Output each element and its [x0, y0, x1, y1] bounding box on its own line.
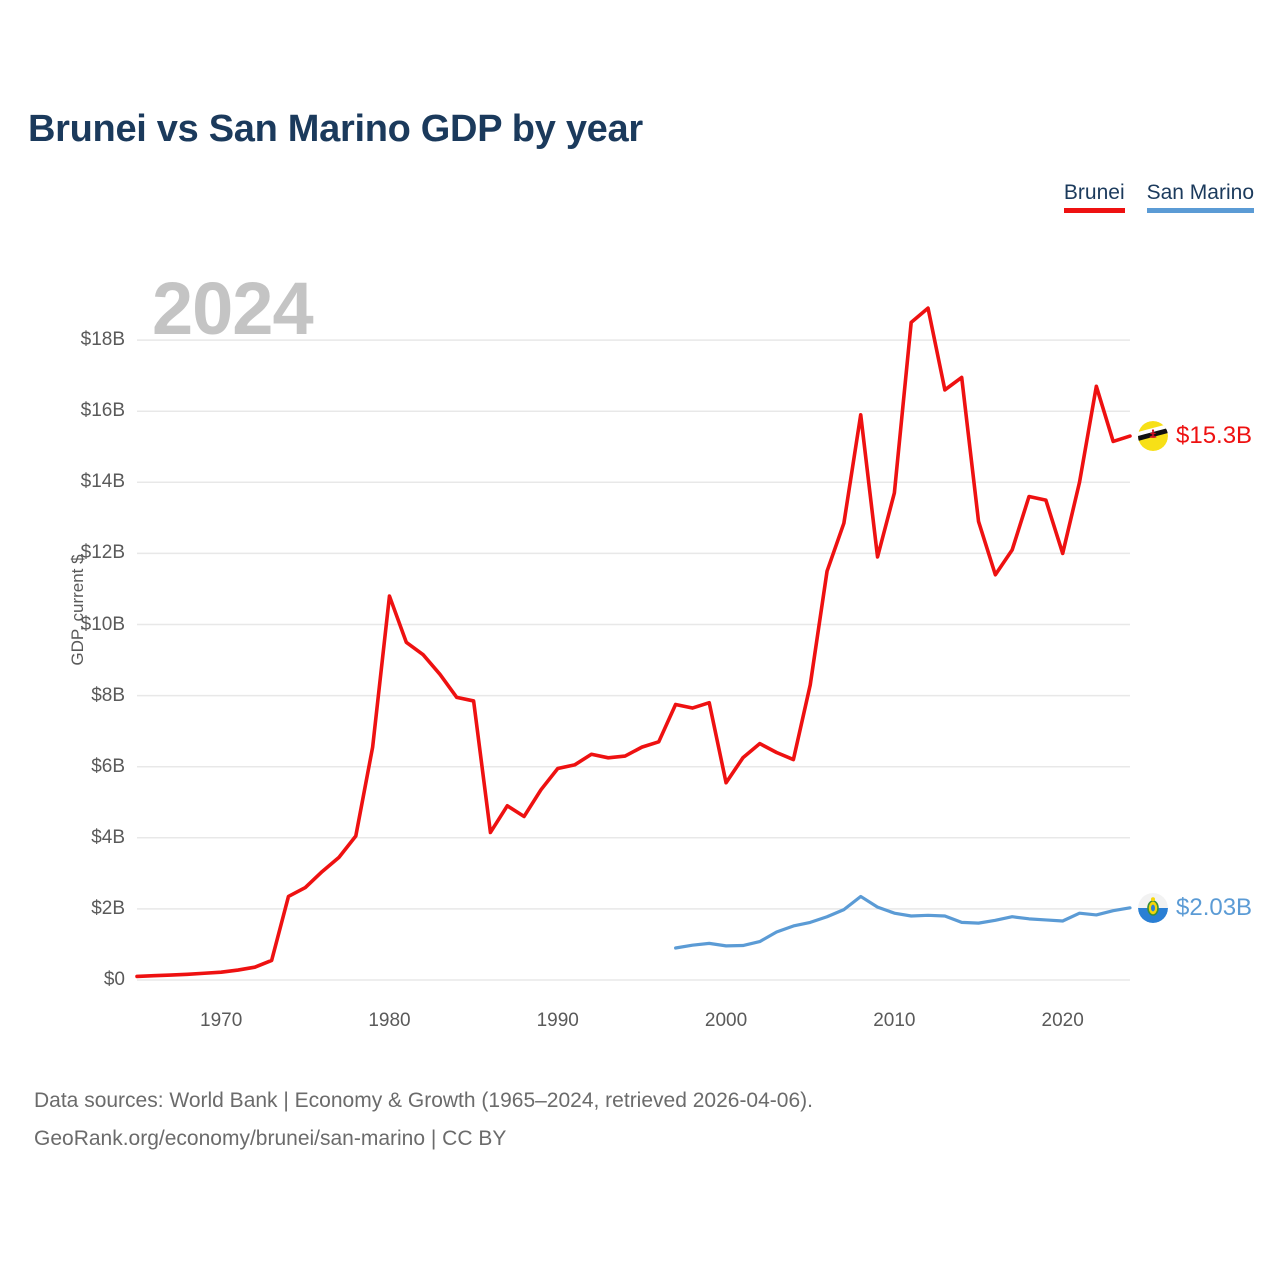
footer-line-2: GeoRank.org/economy/brunei/san-marino | … — [34, 1120, 813, 1158]
series-lines — [137, 308, 1130, 976]
gridlines — [137, 340, 1130, 980]
san-marino-end-label: $2.03B — [1138, 893, 1252, 923]
series-line-brunei — [137, 308, 1130, 976]
san-marino-end-value: $2.03B — [1176, 894, 1252, 922]
chart-page: Brunei vs San Marino GDP by year Brunei … — [0, 0, 1280, 1280]
footer-sources: Data sources: World Bank | Economy & Gro… — [34, 1082, 813, 1158]
brunei-end-value: $15.3B — [1176, 422, 1252, 450]
series-line-san-marino — [676, 896, 1130, 948]
footer-line-1: Data sources: World Bank | Economy & Gro… — [34, 1082, 813, 1120]
brunei-flag-icon — [1138, 421, 1168, 451]
brunei-end-label: $15.3B — [1138, 421, 1252, 451]
san-marino-flag-icon — [1138, 893, 1168, 923]
